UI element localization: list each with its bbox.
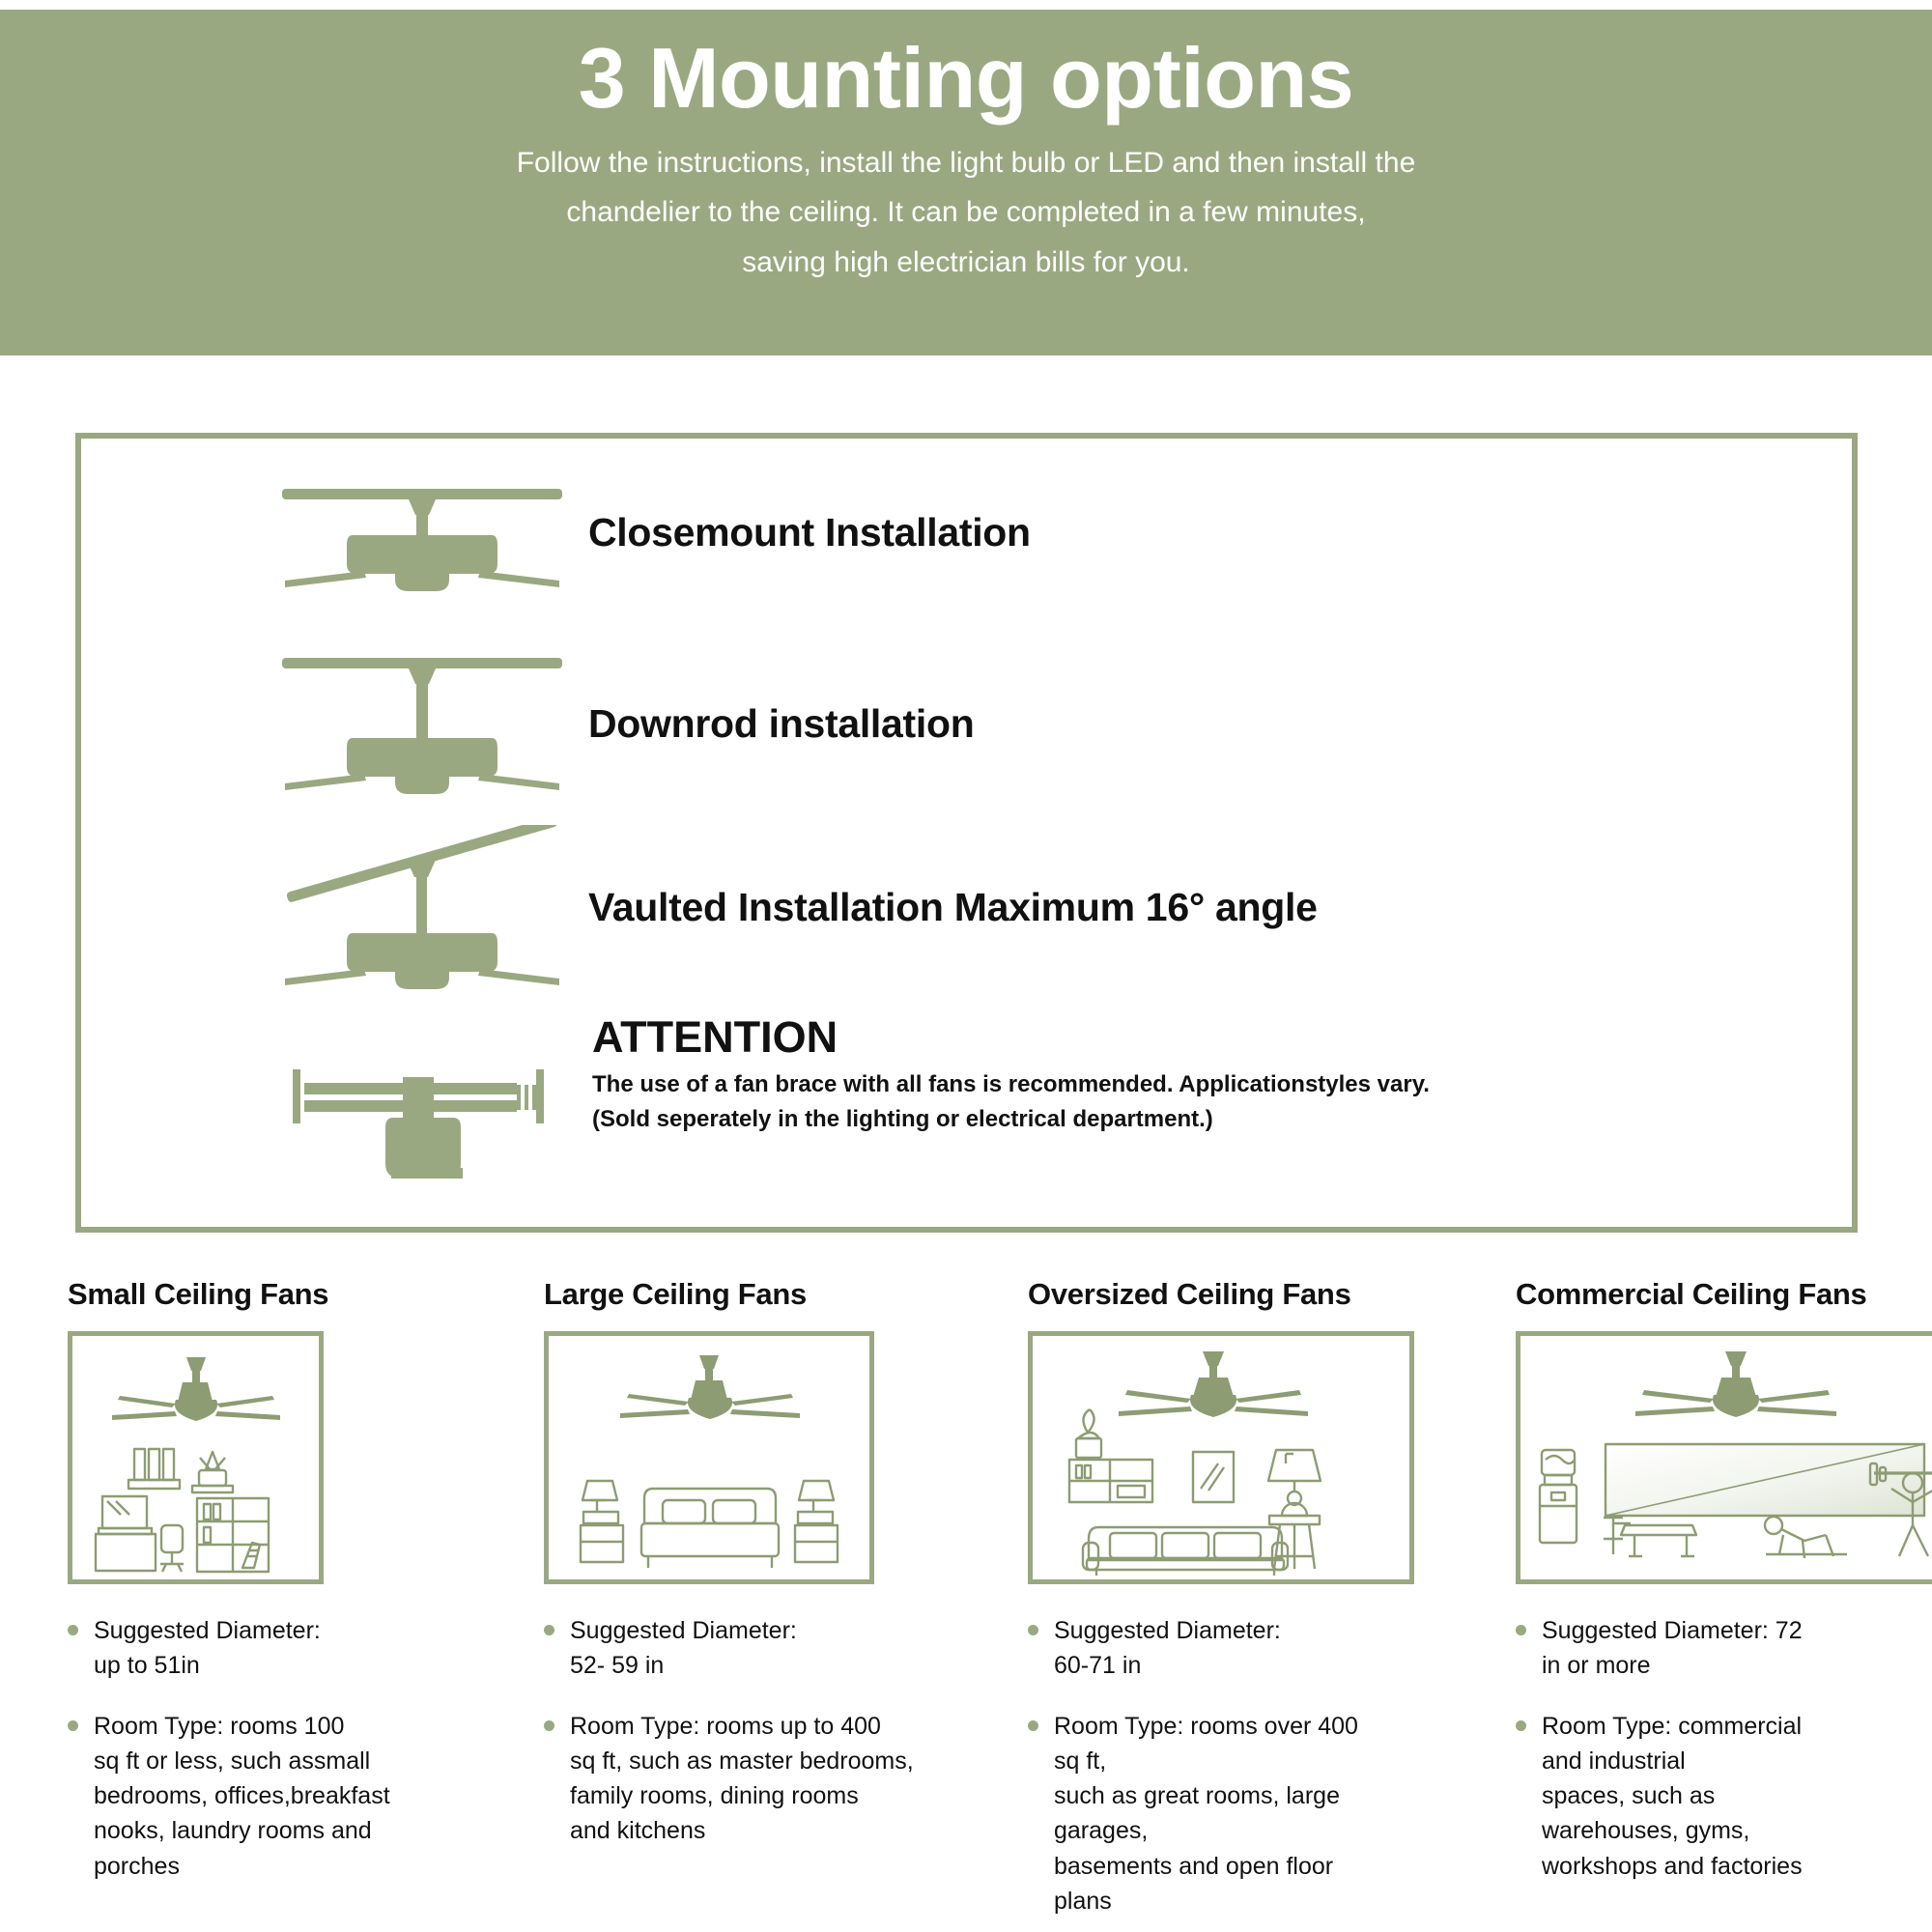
card-large-ceiling-fans: Large Ceiling Fans <box>500 1277 925 1932</box>
closemount-fan-icon <box>255 475 588 591</box>
card-title: Small Ceiling Fans <box>68 1277 483 1312</box>
mounting-option-vaulted: Vaulted Installation Maximum 16° angle <box>255 820 1820 994</box>
card-title: Commercial Ceiling Fans <box>1516 1277 1810 1312</box>
bedroom-scene <box>544 1331 874 1584</box>
fan-size-cards: Small Ceiling Fans <box>58 1277 1893 1932</box>
header-subtitle-line-3: saving high electrician bills for you. <box>338 238 1594 288</box>
list-item: Room Type: rooms over 400 sq ft, such as… <box>1028 1709 1368 1919</box>
list-item: Room Type: commercial and industrial spa… <box>1516 1709 1810 1884</box>
bullet-dot-icon <box>1516 1625 1526 1635</box>
gym-scene <box>1516 1331 1932 1584</box>
bullet-text: Suggested Diameter: up to 51in <box>94 1613 321 1684</box>
downrod-fan-icon <box>255 654 588 794</box>
mounting-option-label: Downrod installation <box>588 701 974 747</box>
list-item: Suggested Diameter: 52- 59 in <box>544 1613 925 1684</box>
attention-text-block: ATTENTION The use of a fan brace with al… <box>588 1013 1430 1137</box>
card-small-ceiling-fans: Small Ceiling Fans <box>58 1277 483 1932</box>
header-subtitle-line-2: chandelier to the ceiling. It can be com… <box>338 187 1594 238</box>
bullet-dot-icon <box>1516 1720 1526 1731</box>
mounting-option-label: Closemount Installation <box>588 510 1031 555</box>
mounting-option-closemount: Closemount Installation <box>255 468 1820 598</box>
list-item: Suggested Diameter: 72 in or more <box>1516 1613 1810 1684</box>
bullet-text: Room Type: commercial and industrial spa… <box>1542 1709 1810 1884</box>
list-item: Suggested Diameter: 60-71 in <box>1028 1613 1368 1684</box>
mounting-option-downrod: Downrod installation <box>255 646 1820 801</box>
card-bullets: Suggested Diameter: 52- 59 in Room Type:… <box>544 1613 925 1849</box>
attention-row: ATTENTION The use of a fan brace with al… <box>255 1013 1820 1187</box>
bullet-dot-icon <box>544 1720 554 1731</box>
bullet-dot-icon <box>68 1720 78 1731</box>
bullet-dot-icon <box>544 1625 554 1635</box>
attention-line-2: (Sold seperately in the lighting or elec… <box>592 1102 1430 1137</box>
mounting-option-label: Vaulted Installation Maximum 16° angle <box>588 885 1318 930</box>
card-title: Oversized Ceiling Fans <box>1028 1277 1368 1312</box>
bullet-dot-icon <box>1028 1625 1038 1635</box>
bullet-text: Room Type: rooms over 400 sq ft, such as… <box>1054 1709 1368 1919</box>
card-title: Large Ceiling Fans <box>544 1277 925 1312</box>
header-banner: 3 Mounting options Follow the instructio… <box>0 10 1932 355</box>
bullet-dot-icon <box>1028 1720 1038 1731</box>
living-room-scene <box>1028 1331 1414 1584</box>
bullet-text: Room Type: rooms up to 400 sq ft, such a… <box>570 1709 914 1849</box>
bullet-dot-icon <box>68 1625 78 1635</box>
card-commercial-ceiling-fans: Commercial Ceiling Fans <box>1385 1277 1810 1932</box>
infographic-page: 3 Mounting options Follow the instructio… <box>0 0 1932 1932</box>
card-bullets: Suggested Diameter: 72 in or more Room T… <box>1516 1613 1810 1884</box>
list-item: Room Type: rooms 100 sq ft or less, such… <box>68 1709 483 1884</box>
bullet-text: Room Type: rooms 100 sq ft or less, such… <box>94 1709 390 1884</box>
bullet-text: Suggested Diameter: 60-71 in <box>1054 1613 1281 1684</box>
header-subtitle-line-1: Follow the instructions, install the lig… <box>338 138 1594 188</box>
attention-line-1: The use of a fan brace with all fans is … <box>592 1067 1430 1102</box>
attention-title: ATTENTION <box>592 1013 1430 1062</box>
mounting-options-panel: Closemount Installation Downrod i <box>75 433 1858 1233</box>
bullet-text: Suggested Diameter: 52- 59 in <box>570 1613 797 1684</box>
page-title: 3 Mounting options <box>579 31 1353 127</box>
card-bullets: Suggested Diameter: up to 51in Room Type… <box>68 1613 483 1884</box>
bullet-text: Suggested Diameter: 72 in or more <box>1542 1613 1810 1684</box>
card-bullets: Suggested Diameter: 60-71 in Room Type: … <box>1028 1613 1368 1918</box>
card-oversized-ceiling-fans: Oversized Ceiling Fans <box>943 1277 1368 1932</box>
fan-brace-icon <box>255 1013 588 1179</box>
list-item: Room Type: rooms up to 400 sq ft, such a… <box>544 1709 925 1849</box>
list-item: Suggested Diameter: up to 51in <box>68 1613 483 1684</box>
home-office-scene <box>68 1331 324 1584</box>
vaulted-fan-icon <box>255 825 588 989</box>
header-subtitle: Follow the instructions, install the lig… <box>338 138 1594 288</box>
